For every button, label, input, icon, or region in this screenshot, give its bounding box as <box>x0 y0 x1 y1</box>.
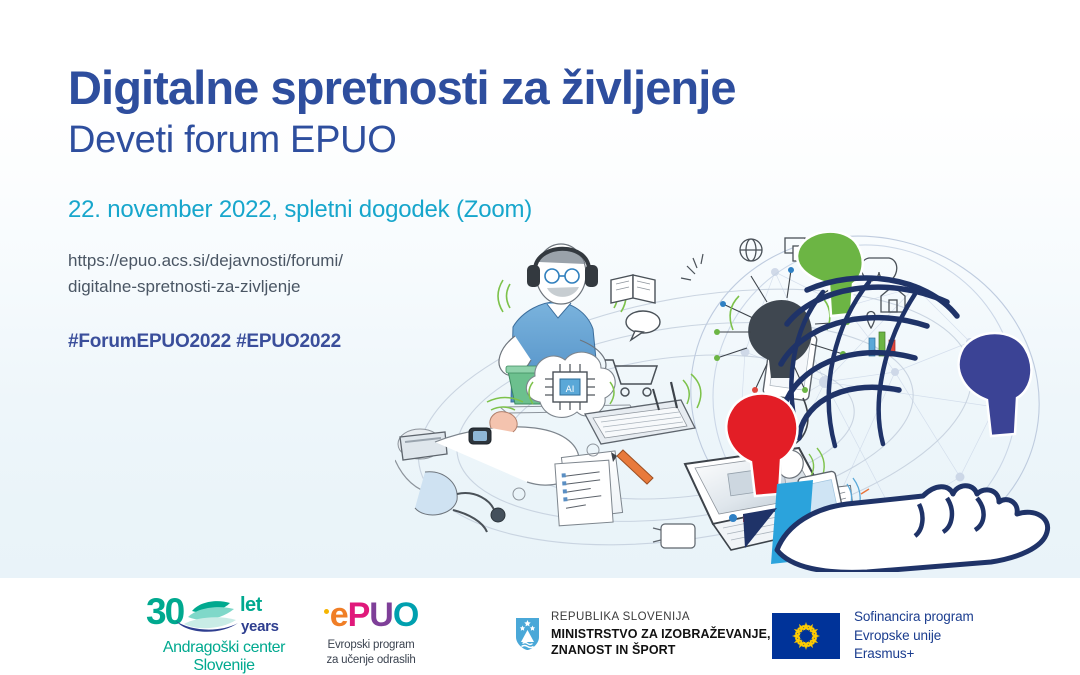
logo-acs: 30 let years Andragoški center Slovenije… <box>140 595 308 675</box>
notes-papers <box>555 450 653 526</box>
logo-ministry: REPUBLIKA SLOVENIJA MINISTRSTVO ZA IZOBR… <box>515 610 771 659</box>
ministry-line1: REPUBLIKA SLOVENIJA <box>551 610 771 626</box>
epuo-letter-o: O <box>393 596 418 634</box>
acs-name: Andragoški center Slovenije <box>140 639 308 674</box>
ai-chip-cloud: AI <box>526 352 615 417</box>
eu-line3: Erasmus+ <box>854 645 974 664</box>
epuo-letter-e: e <box>330 596 348 634</box>
epuo-subtitle-line1: Evropski program <box>312 638 430 653</box>
head-navy <box>959 333 1032 436</box>
acs-logo-mark: 30 let years <box>140 595 308 637</box>
epuo-dot-icon <box>324 609 329 614</box>
slovenia-coat-of-arms-icon <box>515 617 540 651</box>
eu-text: Sofinancira program Evropske unije Erasm… <box>854 608 974 664</box>
epuo-subtitle: Evropski program za učenje odraslih <box>312 638 430 668</box>
eu-line2: Evropske unije <box>854 627 974 646</box>
page-subtitle: Deveti forum EPUO <box>68 117 898 165</box>
epuo-letter-u: U <box>369 596 393 634</box>
svg-text:AI: AI <box>566 385 575 395</box>
power-adapter <box>651 524 695 548</box>
eu-line1: Sofinancira program <box>854 608 974 627</box>
acs-swoosh-icon <box>174 595 240 635</box>
ministry-line3: ZNANOST IN ŠPORT <box>551 642 771 659</box>
book-icon <box>611 275 655 303</box>
ministry-line2: MINISTRSTVO ZA IZOBRAŽEVANJE, <box>551 626 771 643</box>
eu-flag-icon <box>772 613 840 659</box>
ministry-text: REPUBLIKA SLOVENIJA MINISTRSTVO ZA IZOBR… <box>551 610 771 659</box>
poster-canvas: Digitalne spretnosti za življenje Deveti… <box>0 0 1080 675</box>
page-title: Digitalne spretnosti za življenje <box>68 62 898 115</box>
epuo-letter-p: P <box>348 596 370 634</box>
digital-skills-illustration: AI <box>395 232 1055 572</box>
event-date: 22. november 2022, spletni dogodek (Zoom… <box>68 196 898 224</box>
acs-let-label: let <box>240 595 262 615</box>
logo-eu-erasmus: Sofinancira program Evropske unije Erasm… <box>772 608 974 664</box>
epuo-wordmark: ePUO <box>312 598 430 636</box>
epuo-subtitle-line2: za učenje odraslih <box>312 653 430 668</box>
logo-epuo: ePUO Evropski program za učenje odraslih <box>312 598 430 668</box>
acs-years-label: years <box>241 619 279 634</box>
